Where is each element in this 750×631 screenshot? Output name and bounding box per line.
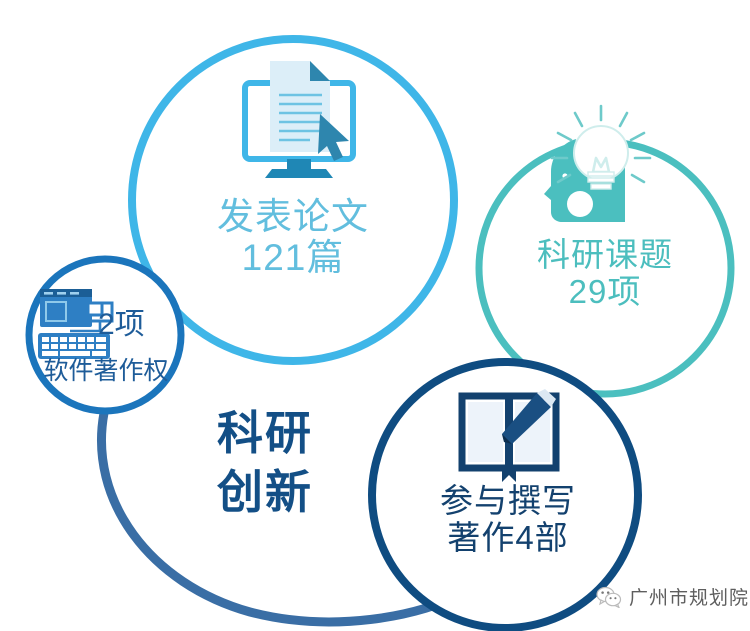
- authored-books-text: 参与撰写 著作4部: [400, 483, 616, 557]
- published-papers-text: 发表论文 121篇: [178, 196, 408, 279]
- research-topics-text: 科研课题 29项: [497, 237, 713, 311]
- authored-books-value: 著作4部: [400, 520, 616, 557]
- infographic-root: 发表论文 121篇 科研课题 29项 参与撰写 著作4部 2项 软件著作权 科研…: [0, 0, 750, 631]
- software-copyright-label: 软件著作权: [26, 357, 186, 385]
- center-heading: 科研 创新: [180, 404, 350, 522]
- center-heading-line1: 科研: [180, 404, 350, 463]
- software-copyright-value: 2项: [98, 308, 194, 342]
- watermark-label: 广州市规划院: [629, 583, 749, 610]
- open-book-pen-icon: [462, 389, 556, 482]
- published-papers-value: 121篇: [178, 237, 408, 278]
- authored-books-label: 参与撰写: [400, 483, 616, 520]
- wechat-icon: [596, 586, 622, 608]
- center-heading-line2: 创新: [180, 463, 350, 522]
- published-papers-label: 发表论文: [178, 196, 408, 237]
- watermark: 广州市规划院: [596, 583, 749, 610]
- research-topics-value: 29项: [497, 274, 713, 311]
- research-topics-label: 科研课题: [497, 237, 713, 274]
